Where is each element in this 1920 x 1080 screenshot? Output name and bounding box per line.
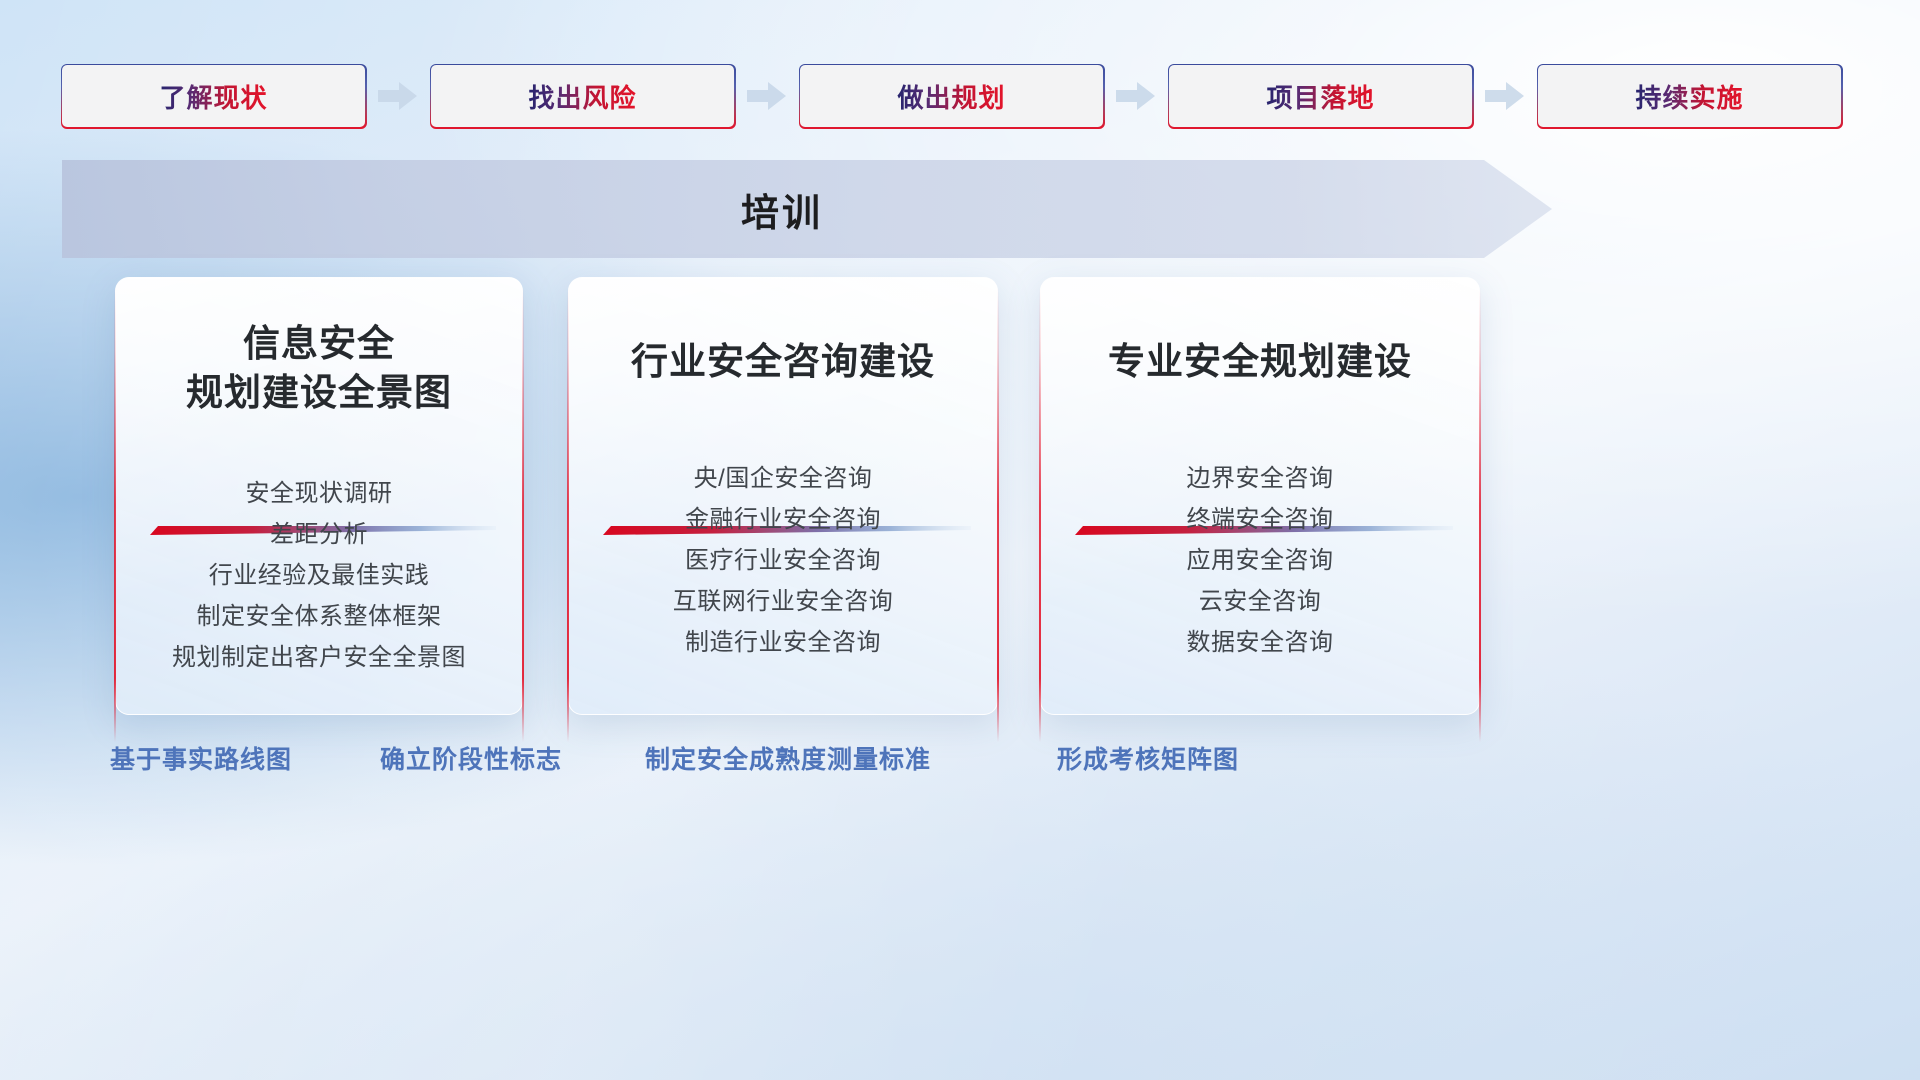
arrow-right-icon <box>1472 65 1538 127</box>
card-item-list: 安全现状调研差距分析行业经验及最佳实践制定安全体系整体框架规划制定出客户安全全景… <box>116 473 522 678</box>
card-item-list: 央/国企安全咨询金融行业安全咨询医疗行业安全咨询互联网行业安全咨询制造行业安全咨… <box>569 458 997 663</box>
card-edge-accent-right <box>997 287 999 742</box>
card-edge-accent-right <box>1479 287 1481 742</box>
card-list-item[interactable]: 央/国企安全咨询 <box>569 458 997 499</box>
step-box-5[interactable]: 持续实施 <box>1538 65 1841 127</box>
step-label: 做出规划 <box>897 78 1005 115</box>
card-2[interactable]: 行业安全咨询建设央/国企安全咨询金融行业安全咨询医疗行业安全咨询互联网行业安全咨… <box>568 277 998 715</box>
card-list-item[interactable]: 差距分析 <box>116 514 522 555</box>
step-label: 项目落地 <box>1266 78 1374 115</box>
step-label: 持续实施 <box>1635 78 1743 115</box>
card-list-item[interactable]: 规划制定出客户安全全景图 <box>116 637 522 678</box>
bottom-label-row: 基于事实路线图确立阶段性标志制定安全成熟度测量标准形成考核矩阵图 <box>0 740 1920 786</box>
step-box-3[interactable]: 做出规划 <box>800 65 1103 127</box>
card-list-item[interactable]: 行业经验及最佳实践 <box>116 555 522 596</box>
bottom-label-1: 基于事实路线图 <box>110 740 292 776</box>
card-edge-accent-right <box>522 287 524 742</box>
card-list-item[interactable]: 制定安全体系整体框架 <box>116 596 522 637</box>
card-list-item[interactable]: 制造行业安全咨询 <box>569 622 997 663</box>
arrow-right-icon <box>1103 65 1169 127</box>
card-list-item[interactable]: 安全现状调研 <box>116 473 522 514</box>
card-list-item[interactable]: 云安全咨询 <box>1041 581 1479 622</box>
card-list-item[interactable]: 数据安全咨询 <box>1041 622 1479 663</box>
bottom-label-3: 制定安全成熟度测量标准 <box>645 740 931 776</box>
bottom-label-2: 确立阶段性标志 <box>380 740 562 776</box>
card-title: 专业安全规划建设 <box>1041 278 1479 387</box>
step-box-1[interactable]: 了解现状 <box>62 65 365 127</box>
arrow-right-icon <box>365 65 431 127</box>
arrow-right-icon <box>734 65 800 127</box>
card-title: 行业安全咨询建设 <box>569 278 997 387</box>
card-edge-accent-left <box>1039 287 1041 742</box>
card-list-item[interactable]: 互联网行业安全咨询 <box>569 581 997 622</box>
card-row: 信息安全 规划建设全景图安全现状调研差距分析行业经验及最佳实践制定安全体系整体框… <box>0 277 1920 717</box>
step-box-2[interactable]: 找出风险 <box>431 65 734 127</box>
card-title: 信息安全 规划建设全景图 <box>116 278 522 418</box>
card-1[interactable]: 信息安全 规划建设全景图安全现状调研差距分析行业经验及最佳实践制定安全体系整体框… <box>115 277 523 715</box>
card-edge-accent-left <box>114 287 116 742</box>
card-list-item[interactable]: 医疗行业安全咨询 <box>569 540 997 581</box>
card-list-item[interactable]: 边界安全咨询 <box>1041 458 1479 499</box>
card-item-list: 边界安全咨询终端安全咨询应用安全咨询云安全咨询数据安全咨询 <box>1041 458 1479 663</box>
card-list-item[interactable]: 金融行业安全咨询 <box>569 499 997 540</box>
bottom-label-4: 形成考核矩阵图 <box>1057 740 1239 776</box>
banner-title: 培训 <box>62 160 1502 258</box>
step-label: 找出风险 <box>528 78 636 115</box>
step-box-4[interactable]: 项目落地 <box>1169 65 1472 127</box>
card-list-item[interactable]: 应用安全咨询 <box>1041 540 1479 581</box>
process-step-row: 了解现状找出风险做出规划项目落地持续实施 <box>62 65 1860 127</box>
card-list-item[interactable]: 终端安全咨询 <box>1041 499 1479 540</box>
training-banner: 培训 <box>62 160 1552 258</box>
card-edge-accent-left <box>567 287 569 742</box>
step-label: 了解现状 <box>159 78 267 115</box>
card-3[interactable]: 专业安全规划建设边界安全咨询终端安全咨询应用安全咨询云安全咨询数据安全咨询 <box>1040 277 1480 715</box>
